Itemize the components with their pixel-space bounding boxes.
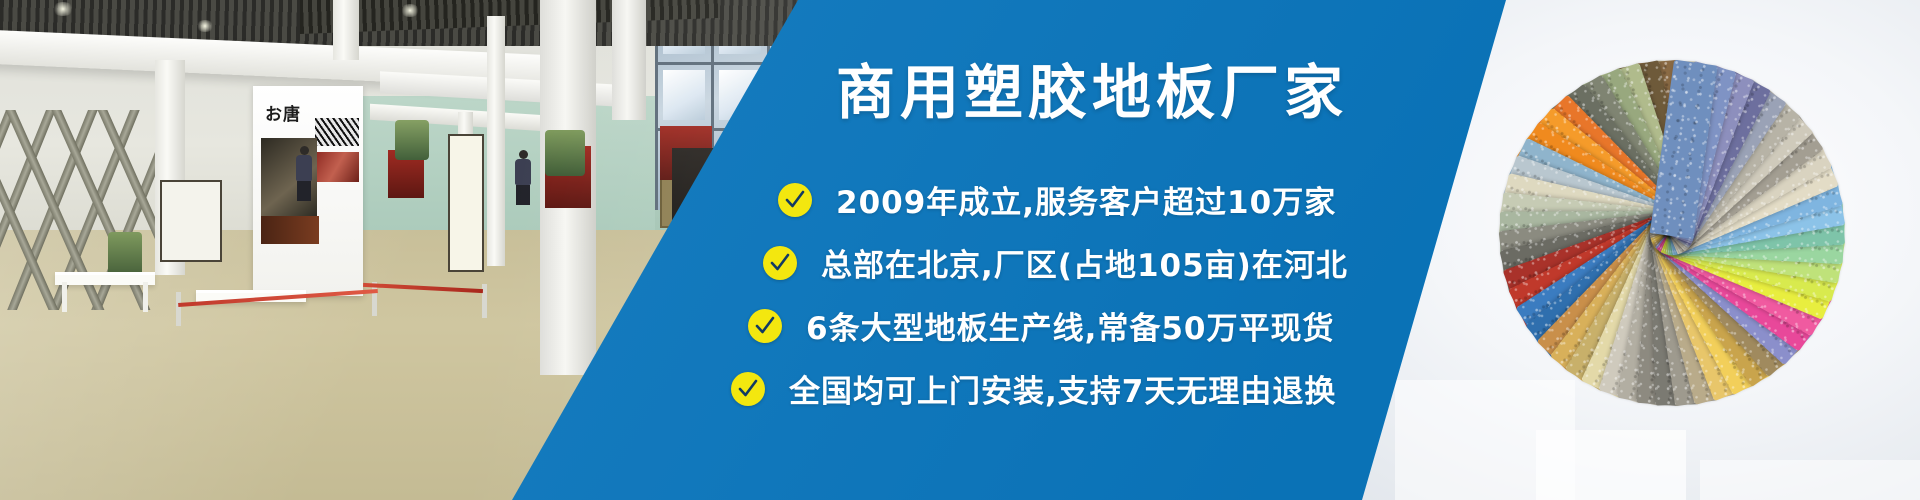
check-circle-icon (763, 246, 797, 280)
feature-text: 全国均可上门安装,支持7天无理由退换 (789, 366, 1336, 411)
check-circle-icon (731, 372, 765, 406)
check-circle-icon (778, 183, 812, 217)
check-circle-icon (748, 309, 782, 343)
promo-banner: お唐 (0, 0, 1920, 500)
feature-text: 2009年成立,服务客户超过10万家 (836, 177, 1336, 222)
feature-text: 总部在北京,厂区(占地105亩)在河北 (821, 240, 1348, 285)
feature-text: 6条大型地板生产线,常备50万平现货 (806, 303, 1334, 348)
page-title: 商用塑胶地板厂家 (836, 63, 1348, 122)
